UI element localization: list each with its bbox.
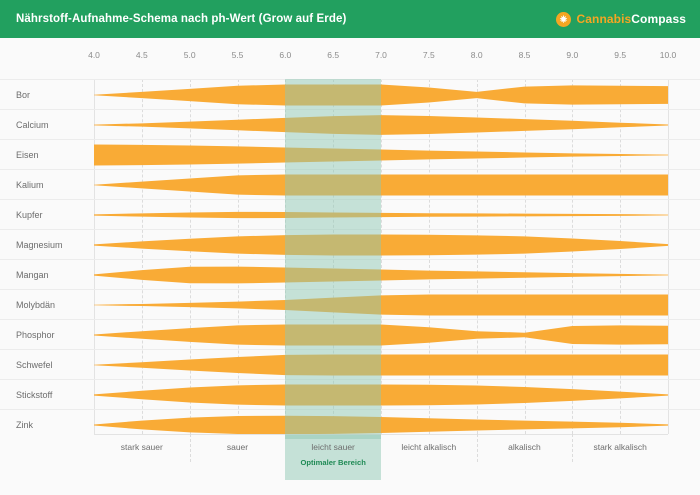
nutrient-label: Eisen [16, 150, 39, 160]
nutrient-label: Magnesium [16, 240, 63, 250]
x-axis: 4.04.55.05.56.06.57.07.58.08.59.09.510.0 [0, 50, 700, 66]
nutrient-row: Mangan [0, 259, 700, 289]
nutrient-label: Stickstoff [16, 390, 52, 400]
nutrient-row: Eisen [0, 139, 700, 169]
nutrient-label: Zink [16, 420, 33, 430]
nutrient-label: Phosphor [16, 330, 55, 340]
ph-zone-label: leicht alkalisch [401, 442, 456, 452]
nutrient-row: Stickstoff [0, 379, 700, 409]
axis-tick: 8.5 [519, 50, 531, 60]
axis-tick: 7.0 [375, 50, 387, 60]
nutrient-ph-chart: Nährstoff-Aufnahme-Schema nach ph-Wert (… [0, 0, 700, 495]
axis-tick: 4.0 [88, 50, 100, 60]
ph-zone: alkalisch [477, 434, 573, 480]
brand-name-secondary: Compass [631, 12, 686, 26]
brand-name-primary: Cannabis [576, 12, 631, 26]
nutrient-label: Bor [16, 90, 30, 100]
nutrient-band [94, 80, 668, 110]
plot-area: 4.04.55.05.56.06.57.07.58.08.59.09.510.0… [0, 38, 700, 495]
ph-zone: stark sauer [94, 434, 190, 480]
cannabis-leaf-icon [556, 12, 571, 27]
nutrient-label: Mangan [16, 270, 49, 280]
ph-zone-label: sauer [227, 442, 248, 452]
nutrient-row: Calcium [0, 109, 700, 139]
axis-tick: 7.5 [423, 50, 435, 60]
nutrient-label: Kupfer [16, 210, 43, 220]
axis-tick: 6.0 [279, 50, 291, 60]
ph-zone: leicht alkalisch [381, 434, 477, 480]
nutrient-band [94, 170, 668, 200]
nutrient-row: Magnesium [0, 229, 700, 259]
nutrient-band [94, 380, 668, 410]
nutrient-band [94, 350, 668, 380]
nutrient-row: Kalium [0, 169, 700, 199]
nutrient-label: Molybdän [16, 300, 55, 310]
ph-zone-label: stark alkalisch [593, 442, 646, 452]
axis-tick: 8.0 [471, 50, 483, 60]
ph-zone: stark alkalisch [572, 434, 668, 480]
nutrient-row: Schwefel [0, 349, 700, 379]
ph-zone-label: leicht sauer [311, 442, 354, 452]
brand-logo: CannabisCompass [556, 12, 686, 27]
ph-zone: sauer [190, 434, 286, 480]
nutrient-band [94, 110, 668, 140]
ph-zone: leicht sauerOptimaler Bereich [285, 434, 381, 480]
nutrient-row: Bor [0, 79, 700, 109]
axis-tick: 5.0 [184, 50, 196, 60]
nutrient-label: Kalium [16, 180, 44, 190]
nutrient-rows: BorCalciumEisenKaliumKupferMagnesiumMang… [0, 79, 700, 434]
nutrient-band [94, 140, 668, 170]
axis-tick: 6.5 [327, 50, 339, 60]
nutrient-row: Kupfer [0, 199, 700, 229]
axis-tick: 4.5 [136, 50, 148, 60]
axis-tick: 9.0 [566, 50, 578, 60]
nutrient-row: Molybdän [0, 289, 700, 319]
ph-zone-label: stark sauer [121, 442, 163, 452]
nutrient-band [94, 290, 668, 320]
axis-tick: 9.5 [614, 50, 626, 60]
axis-tick: 10.0 [660, 50, 677, 60]
nutrient-label: Schwefel [16, 360, 53, 370]
nutrient-band [94, 230, 668, 260]
header-bar: Nährstoff-Aufnahme-Schema nach ph-Wert (… [0, 0, 700, 38]
axis-tick: 5.5 [232, 50, 244, 60]
optimal-range-label: Optimaler Bereich [300, 458, 365, 467]
ph-zone-legend: stark sauersauerleicht sauerOptimaler Be… [94, 434, 668, 480]
zone-separator [190, 434, 191, 462]
nutrient-row: Phosphor [0, 319, 700, 349]
ph-zone-label: alkalisch [508, 442, 541, 452]
nutrient-band [94, 200, 668, 230]
nutrient-band [94, 260, 668, 290]
page-title: Nährstoff-Aufnahme-Schema nach ph-Wert (… [16, 13, 346, 25]
nutrient-label: Calcium [16, 120, 49, 130]
zone-separator [572, 434, 573, 462]
zone-separator [477, 434, 478, 462]
nutrient-band [94, 320, 668, 350]
